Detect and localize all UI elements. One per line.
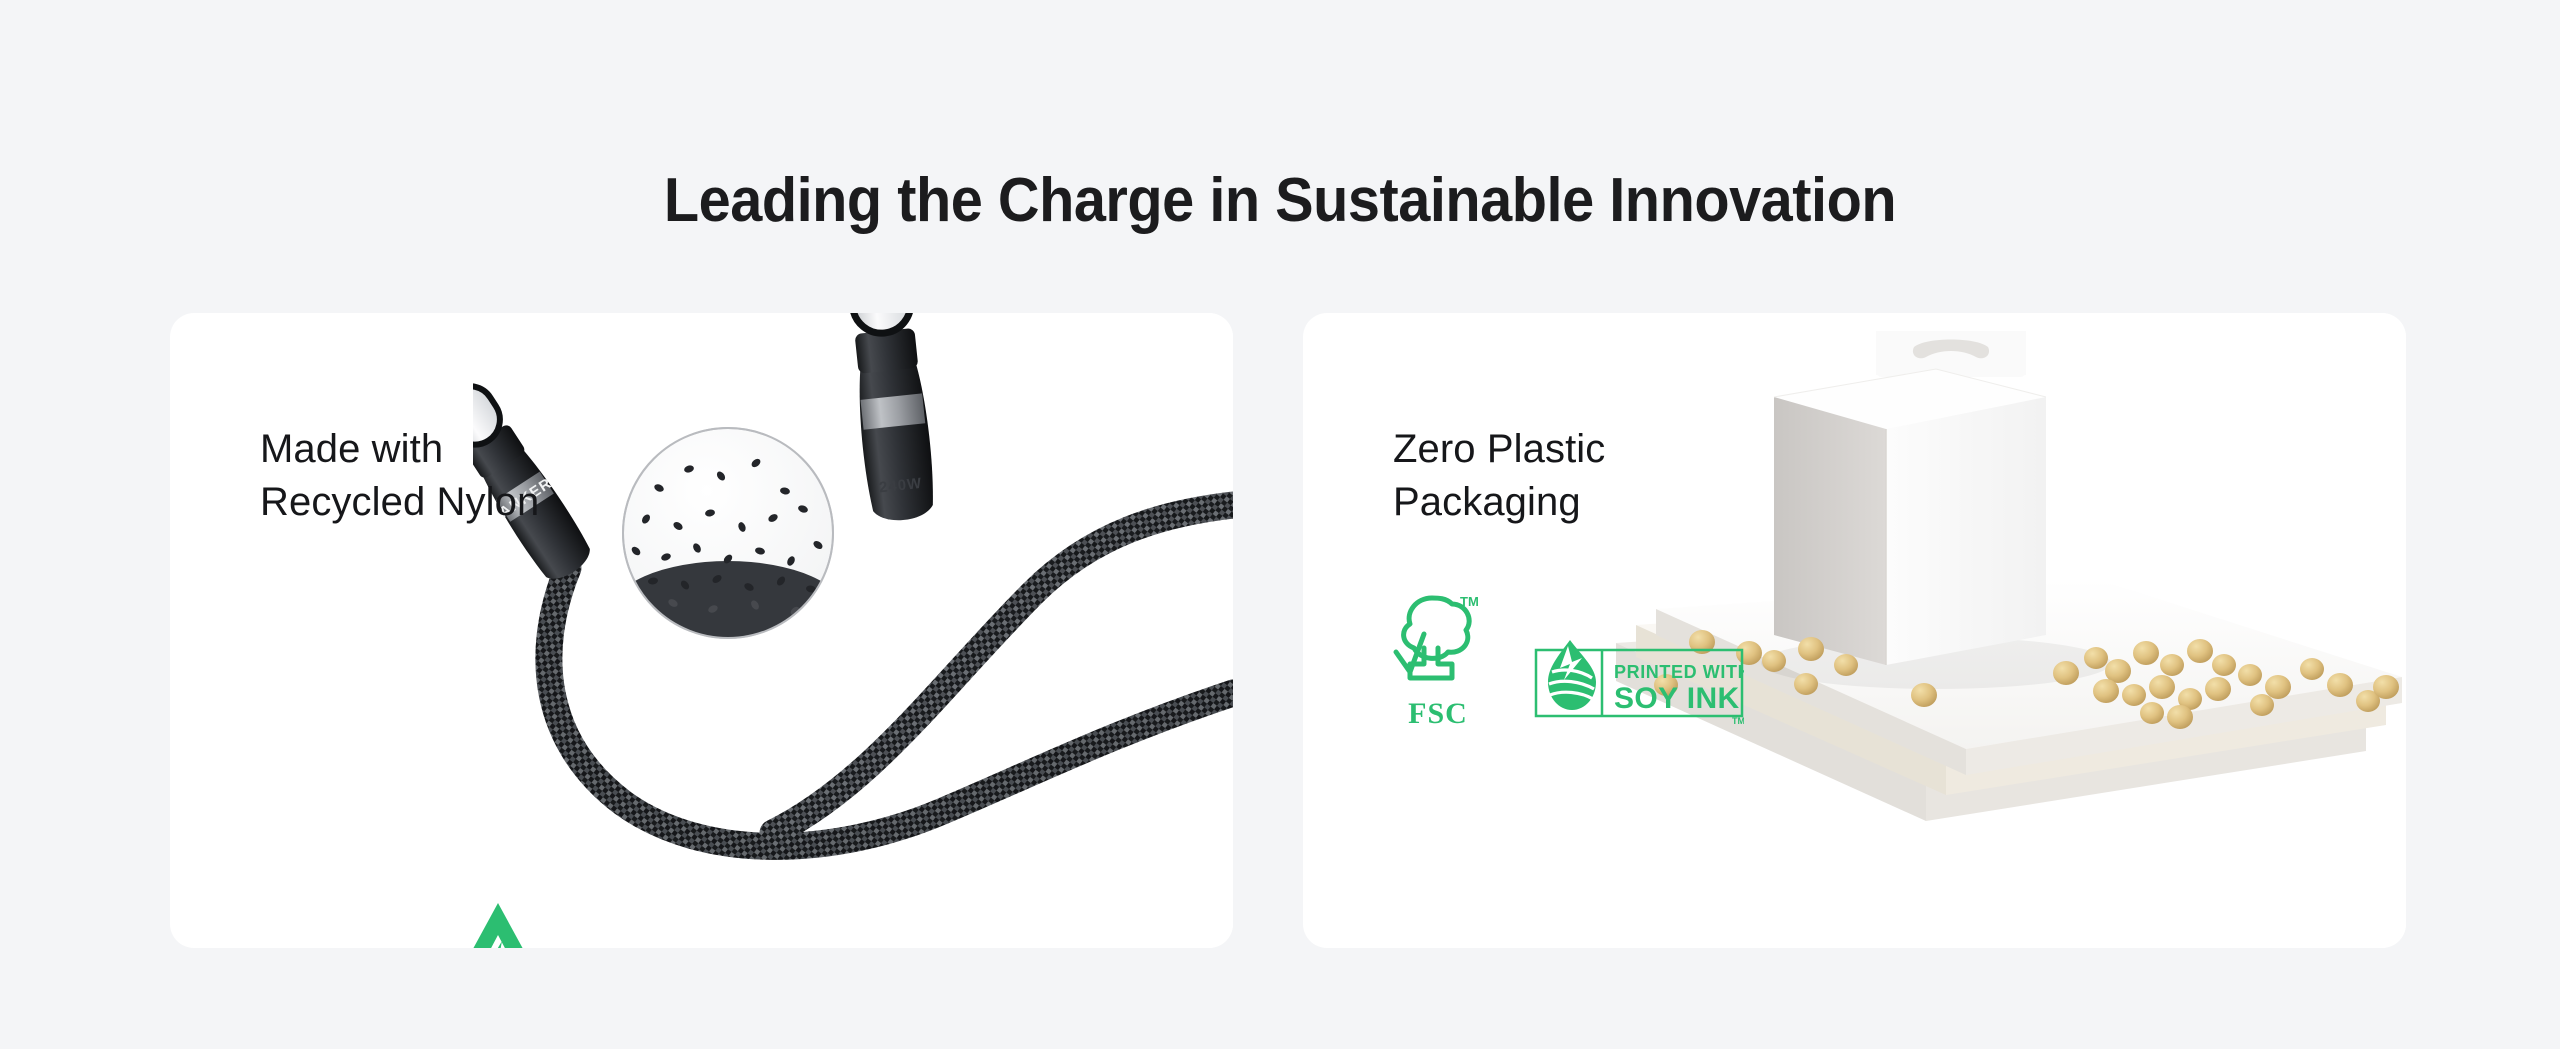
soy-ink-trademark-text: TM	[1732, 716, 1744, 726]
feature-card-recycled-nylon[interactable]: ANKER 240W	[170, 313, 1233, 948]
anker-eco-product-badge: Anker Eco Product	[428, 897, 568, 948]
fsc-label-text: FSC	[1390, 697, 1486, 731]
fsc-logo: TM FSC	[1390, 590, 1486, 731]
page-title: Leading the Charge in Sustainable Innova…	[90, 165, 2471, 236]
usb-c-braided-cable-photo: ANKER 240W	[473, 313, 1233, 948]
certification-logos: TM FSC PRINTED WITH SOY INK	[1390, 590, 1744, 731]
anker-eco-leaf-bolt-icon	[446, 897, 550, 948]
card-text-block: Zero Plastic Packaging	[1393, 423, 1605, 529]
card-text-block: Made with Recycled Nylon	[260, 423, 539, 529]
fsc-trademark-text: TM	[1460, 594, 1479, 609]
card-headline-recycled-nylon: Made with Recycled Nylon	[260, 423, 539, 529]
sustainability-feature-section: Leading the Charge in Sustainable Innova…	[0, 0, 2560, 1049]
card-headline-zero-plastic-packaging: Zero Plastic Packaging	[1393, 423, 1605, 529]
soy-ink-line2-text: SOY INK	[1614, 682, 1740, 715]
soy-ink-line1-text: PRINTED WITH	[1614, 662, 1744, 682]
printed-with-soy-ink-logo: PRINTED WITH SOY INK TM	[1534, 638, 1744, 731]
